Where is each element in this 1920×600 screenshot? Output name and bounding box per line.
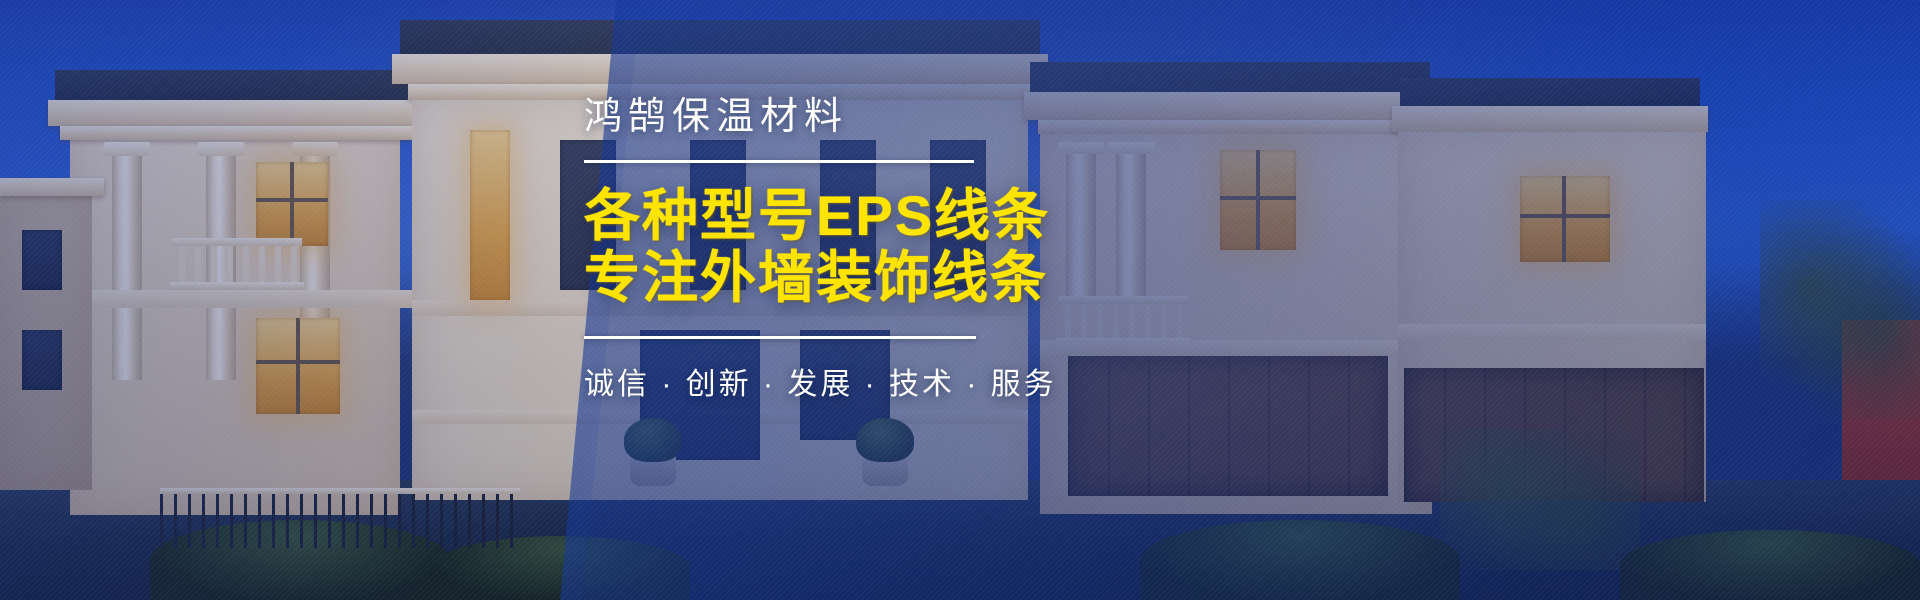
banner-copy: 鸿鹄保温材料 各种型号EPS线条 专注外墙装饰线条 诚信 · 创新 · 发展 ·… [584, 96, 1284, 403]
headline-line-2: 专注外墙装饰线条 [584, 247, 1284, 310]
headline-block: 各种型号EPS线条 专注外墙装饰线条 [584, 185, 1284, 310]
headline-line-1: 各种型号EPS线条 [584, 185, 1284, 248]
divider-rule-top [584, 160, 974, 163]
brand-name: 鸿鹄保温材料 [584, 96, 1284, 140]
overlay-left-tint [0, 0, 640, 600]
hero-banner: 鸿鹄保温材料 各种型号EPS线条 专注外墙装饰线条 诚信 · 创新 · 发展 ·… [0, 0, 1920, 600]
tagline: 诚信 · 创新 · 发展 · 技术 · 服务 [584, 359, 1284, 403]
divider-rule-bottom [584, 336, 976, 339]
